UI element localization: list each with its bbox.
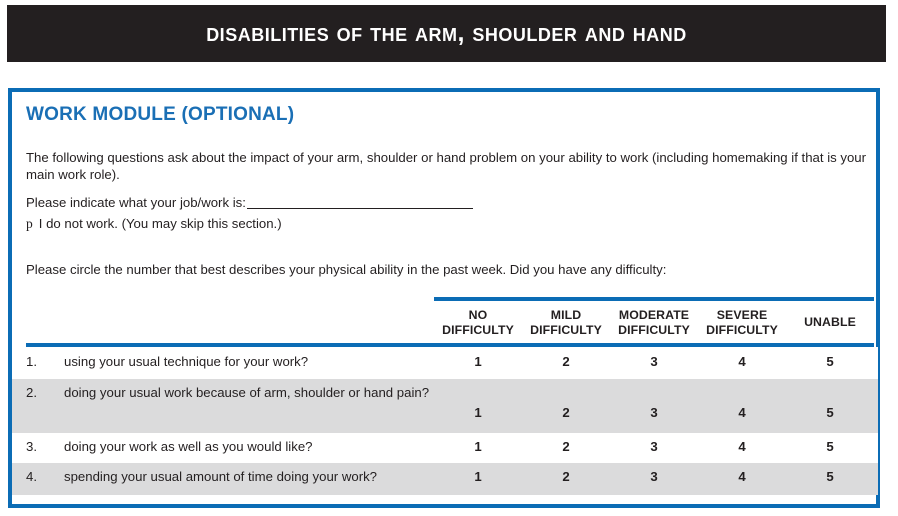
- column-header-mild-difficulty: MILD DIFFICULTY: [522, 308, 610, 339]
- job-description-line: Please indicate what your job/work is:: [26, 195, 473, 210]
- table-row: 4. spending your usual amount of time do…: [12, 463, 878, 495]
- column-header-moderate-difficulty: MODERATE DIFFICULTY: [610, 308, 698, 339]
- column-header-severe-difficulty: SEVERE DIFFICULTY: [698, 308, 786, 339]
- column-header-line1: SEVERE: [698, 308, 786, 323]
- scale-option-1[interactable]: 1: [434, 469, 522, 484]
- scale-option-2[interactable]: 2: [522, 354, 610, 369]
- no-work-option[interactable]: pI do not work. (You may skip this secti…: [26, 216, 282, 232]
- scale-option-4[interactable]: 4: [698, 405, 786, 420]
- scale-option-4[interactable]: 4: [698, 439, 786, 454]
- row-question: using your usual technique for your work…: [64, 354, 434, 371]
- row-number: 4.: [26, 469, 37, 484]
- row-question: doing your usual work because of arm, sh…: [64, 385, 434, 402]
- job-description-label: Please indicate what your job/work is:: [26, 195, 246, 210]
- scale-option-3[interactable]: 3: [610, 405, 698, 420]
- scale-option-4[interactable]: 4: [698, 354, 786, 369]
- scale-option-1[interactable]: 1: [434, 439, 522, 454]
- scale-option-2[interactable]: 2: [522, 405, 610, 420]
- row-number: 3.: [26, 439, 37, 454]
- scale-option-5[interactable]: 5: [786, 469, 874, 484]
- row-scale: 1 2 3 4 5: [434, 439, 874, 454]
- scale-option-3[interactable]: 3: [610, 354, 698, 369]
- work-module-panel-body: WORK MODULE (OPTIONAL) The following que…: [12, 92, 876, 504]
- circle-instruction: Please circle the number that best descr…: [26, 262, 666, 277]
- table-row: 1. using your usual technique for your w…: [12, 347, 878, 379]
- scale-option-1[interactable]: 1: [434, 405, 522, 420]
- scale-option-3[interactable]: 3: [610, 439, 698, 454]
- scale-option-5[interactable]: 5: [786, 354, 874, 369]
- scale-option-5[interactable]: 5: [786, 405, 874, 420]
- row-question: spending your usual amount of time doing…: [64, 469, 434, 486]
- row-number: 1.: [26, 354, 37, 369]
- column-header-no-difficulty: NO DIFFICULTY: [434, 308, 522, 339]
- checkbox-icon[interactable]: p: [26, 216, 33, 231]
- column-header-line2: DIFFICULTY: [434, 323, 522, 338]
- column-header-line2: DIFFICULTY: [522, 323, 610, 338]
- table-row: 2. doing your usual work because of arm,…: [12, 379, 878, 433]
- table-row: 3. doing your work as well as you would …: [12, 433, 878, 463]
- section-heading: WORK MODULE (OPTIONAL): [26, 104, 294, 126]
- column-header-line1: NO: [434, 308, 522, 323]
- column-header-unable: UNABLE: [786, 315, 874, 330]
- intro-paragraph: The following questions ask about the im…: [26, 149, 874, 184]
- row-scale: 1 2 3 4 5: [434, 354, 874, 369]
- page-title-bar: Disabilities of the Arm, Shoulder and Ha…: [7, 5, 886, 62]
- job-description-input[interactable]: [247, 208, 473, 209]
- table-column-headers: NO DIFFICULTY MILD DIFFICULTY MODERATE D…: [434, 304, 874, 342]
- table-top-rule: [434, 297, 874, 301]
- column-header-line1: UNABLE: [786, 315, 874, 330]
- column-header-line2: DIFFICULTY: [610, 323, 698, 338]
- column-header-line2: DIFFICULTY: [698, 323, 786, 338]
- column-header-line1: MODERATE: [610, 308, 698, 323]
- work-module-panel: WORK MODULE (OPTIONAL) The following que…: [8, 88, 880, 508]
- page-title: Disabilities of the Arm, Shoulder and Ha…: [206, 19, 687, 48]
- scale-option-1[interactable]: 1: [434, 354, 522, 369]
- row-number: 2.: [26, 385, 37, 400]
- question-rows: 1. using your usual technique for your w…: [12, 347, 878, 495]
- row-scale: 1 2 3 4 5: [434, 469, 874, 484]
- column-header-line1: MILD: [522, 308, 610, 323]
- row-scale: 1 2 3 4 5: [434, 405, 874, 420]
- scale-option-2[interactable]: 2: [522, 439, 610, 454]
- scale-option-3[interactable]: 3: [610, 469, 698, 484]
- scale-option-2[interactable]: 2: [522, 469, 610, 484]
- scale-option-4[interactable]: 4: [698, 469, 786, 484]
- no-work-label: I do not work. (You may skip this sectio…: [39, 216, 282, 231]
- scale-option-5[interactable]: 5: [786, 439, 874, 454]
- row-question: doing your work as well as you would lik…: [64, 439, 434, 456]
